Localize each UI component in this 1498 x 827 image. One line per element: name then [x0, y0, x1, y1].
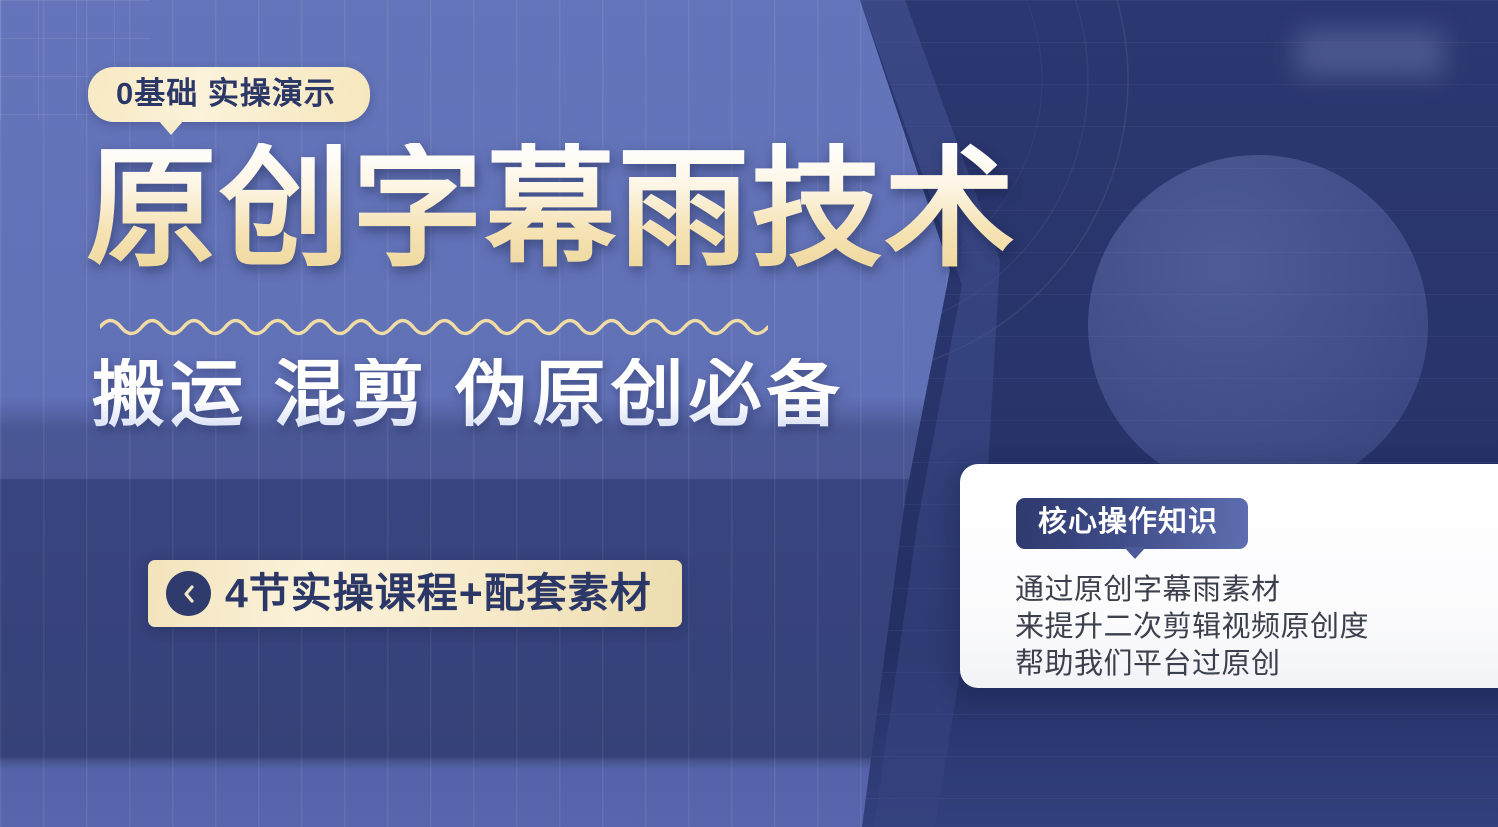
info-card-line: 来提升二次剪辑视频原创度 [1015, 609, 1369, 646]
badge-tail-icon [158, 120, 184, 135]
badge-body: 0基础 实操演示 [88, 67, 370, 122]
info-card-line: 帮助我们平台过原创 [1015, 646, 1369, 683]
page-subtitle: 搬运 混剪 伪原创必备 [92, 358, 845, 431]
badge-label: 0基础 实操演示 [116, 78, 336, 109]
info-card: 核心操作知识 通过原创字幕雨素材 来提升二次剪辑视频原创度 帮助我们平台过原创 [960, 464, 1498, 688]
golden-wave-divider [100, 312, 768, 342]
info-tag-body: 核心操作知识 [1016, 498, 1248, 549]
info-card-body: 通过原创字幕雨素材 来提升二次剪辑视频原创度 帮助我们平台过原创 [1015, 572, 1369, 683]
headline-badge: 0基础 实操演示 [88, 67, 370, 122]
info-card-tag: 核心操作知识 [1016, 498, 1248, 549]
blurred-watermark-block [1296, 30, 1444, 76]
chevron-left-icon[interactable] [166, 571, 211, 616]
page-title: 原创字幕雨技术 [86, 143, 1017, 274]
info-card-line: 通过原创字幕雨素材 [1015, 572, 1369, 609]
poster-canvas: 0基础 实操演示 原创字幕雨技术 搬运 混剪 伪原创必备 4节实操课程+配套素材… [0, 0, 1498, 827]
info-tag-tail-icon [1124, 547, 1146, 559]
translucent-circle-decoration [1088, 155, 1428, 495]
course-bar-label: 4节实操课程+配套素材 [225, 573, 652, 614]
course-info-bar[interactable]: 4节实操课程+配套素材 [148, 560, 682, 627]
info-tag-label: 核心操作知识 [1038, 508, 1218, 537]
